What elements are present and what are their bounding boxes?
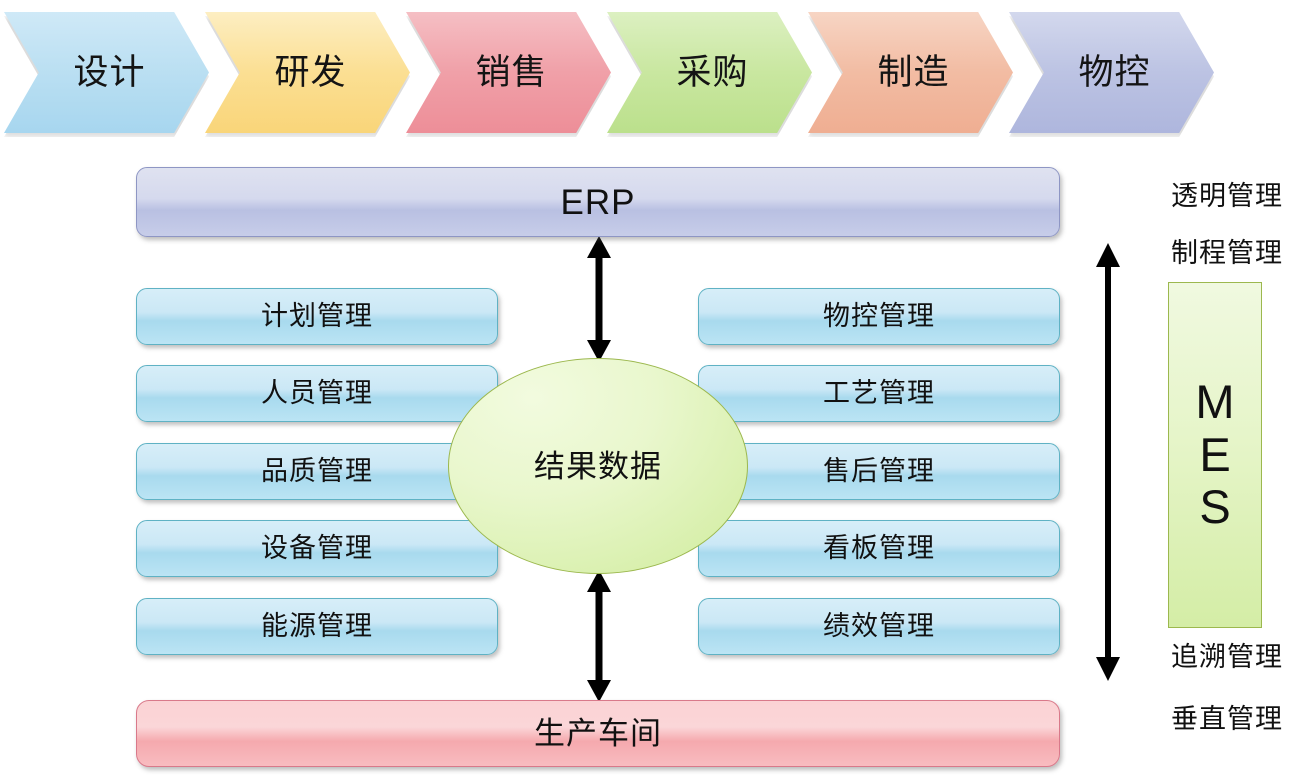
module-performance-management[interactable]: 绩效管理 (698, 598, 1060, 655)
process-step-label: 研发 (274, 55, 346, 90)
module-label: 计划管理 (261, 303, 373, 330)
module-label: 绩效管理 (823, 613, 935, 640)
production-shop-bar[interactable]: 生产车间 (136, 700, 1060, 767)
process-step-label: 物控 (1078, 55, 1150, 90)
double-arrow-erp-to-data (578, 236, 620, 362)
mes-letter-e: E (1195, 429, 1234, 482)
side-label-transparent-management: 透明管理 (1146, 183, 1308, 210)
module-quality-management[interactable]: 品质管理 (136, 443, 498, 500)
process-step-material-control[interactable]: 物控 (1009, 12, 1214, 133)
module-equipment-management[interactable]: 设备管理 (136, 520, 498, 577)
process-step-rnd[interactable]: 研发 (205, 12, 410, 133)
side-label-vertical-management: 垂直管理 (1146, 706, 1308, 733)
process-step-label: 销售 (475, 55, 547, 90)
diagram-canvas: 设计 研发 销售 采购 制造 物控 ERP 计划管理 人员管理 品质管理 设备管… (0, 0, 1308, 778)
double-arrow-mes-scope (1088, 243, 1128, 681)
module-aftersales-management[interactable]: 售后管理 (698, 443, 1060, 500)
erp-bar[interactable]: ERP (136, 167, 1060, 237)
result-data-ellipse[interactable]: 结果数据 (448, 358, 748, 574)
module-label: 售后管理 (823, 458, 935, 485)
process-step-design[interactable]: 设计 (4, 12, 209, 133)
process-step-label: 设计 (73, 55, 145, 90)
mes-letter-m: M (1195, 376, 1234, 429)
module-label: 能源管理 (261, 613, 373, 640)
process-step-sales[interactable]: 销售 (406, 12, 611, 133)
side-label-process-management: 制程管理 (1146, 240, 1308, 267)
process-step-purchase[interactable]: 采购 (607, 12, 812, 133)
result-data-label: 结果数据 (534, 451, 662, 482)
process-step-manufacture[interactable]: 制造 (808, 12, 1013, 133)
module-process-management[interactable]: 工艺管理 (698, 365, 1060, 422)
module-label: 物控管理 (823, 303, 935, 330)
module-label: 人员管理 (261, 380, 373, 407)
mes-letters: M E S (1195, 376, 1234, 534)
module-label: 品质管理 (261, 458, 373, 485)
mes-letter-s: S (1195, 481, 1234, 534)
module-label: 工艺管理 (823, 380, 935, 407)
module-plan-management[interactable]: 计划管理 (136, 288, 498, 345)
module-material-control-management[interactable]: 物控管理 (698, 288, 1060, 345)
module-label: 看板管理 (823, 535, 935, 562)
double-arrow-data-to-shop (578, 570, 620, 702)
process-step-label: 采购 (676, 55, 748, 90)
module-kanban-management[interactable]: 看板管理 (698, 520, 1060, 577)
side-label-traceability-management: 追溯管理 (1146, 644, 1308, 671)
production-shop-label: 生产车间 (534, 718, 662, 749)
module-energy-management[interactable]: 能源管理 (136, 598, 498, 655)
process-step-label: 制造 (877, 55, 949, 90)
mes-box[interactable]: M E S (1168, 282, 1262, 628)
module-personnel-management[interactable]: 人员管理 (136, 365, 498, 422)
module-label: 设备管理 (261, 535, 373, 562)
erp-label: ERP (561, 185, 636, 220)
